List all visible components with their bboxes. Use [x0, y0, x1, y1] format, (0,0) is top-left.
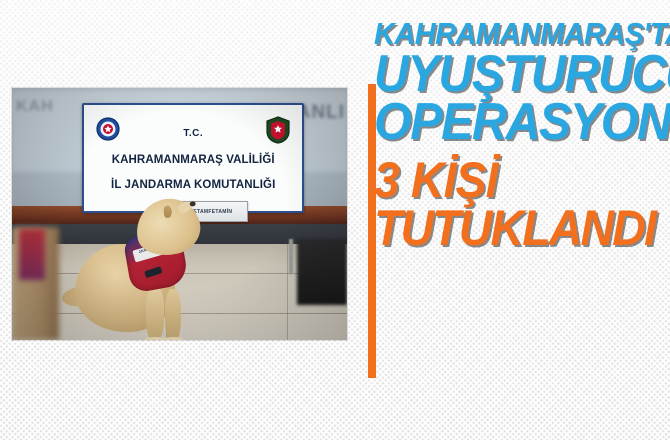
- sign-line-tc: T.C.: [84, 128, 302, 139]
- sniffer-dog: JANDARMA: [66, 199, 227, 340]
- background-banner-text-left: KAH: [16, 98, 54, 116]
- headline-block: KAHRAMANMARAŞ'TA UYUŞTURUCU OPERASYONU! …: [374, 20, 666, 251]
- sign-line-valilik: KAHRAMANMARAŞ VALİLİĞİ: [84, 154, 302, 166]
- news-photo: KAH ANLI: [12, 88, 347, 340]
- headline-line-4: 3 KİŞİ: [374, 157, 646, 203]
- dog-paw: [163, 337, 184, 340]
- cabinet-leg: [289, 239, 293, 274]
- headline-line-3: OPERASYONU!: [374, 99, 646, 147]
- headline-line-2: UYUŞTURUCU: [374, 51, 646, 99]
- dog-front-leg: [165, 289, 181, 340]
- dog-nose: [190, 201, 197, 207]
- dog-vest-buckle: [144, 266, 163, 278]
- jandarma-sign-board: T.C. KAHRAMANMARAŞ VALİLİĞİ İL JANDARMA …: [82, 103, 304, 213]
- photo-scene: KAH ANLI: [12, 88, 347, 340]
- headline-line-5: TUTUKLANDI: [374, 205, 646, 251]
- foreground-blur-band: [19, 229, 46, 279]
- sign-line-komutanlik: İL JANDARMA KOMUTANLIĞI: [84, 179, 302, 191]
- dog-front-leg: [146, 286, 164, 340]
- background-cabinet: [297, 239, 347, 305]
- dog-ear: [164, 205, 173, 218]
- news-graphic-canvas: KAH ANLI: [0, 0, 670, 440]
- floor-grout-line: [287, 244, 288, 340]
